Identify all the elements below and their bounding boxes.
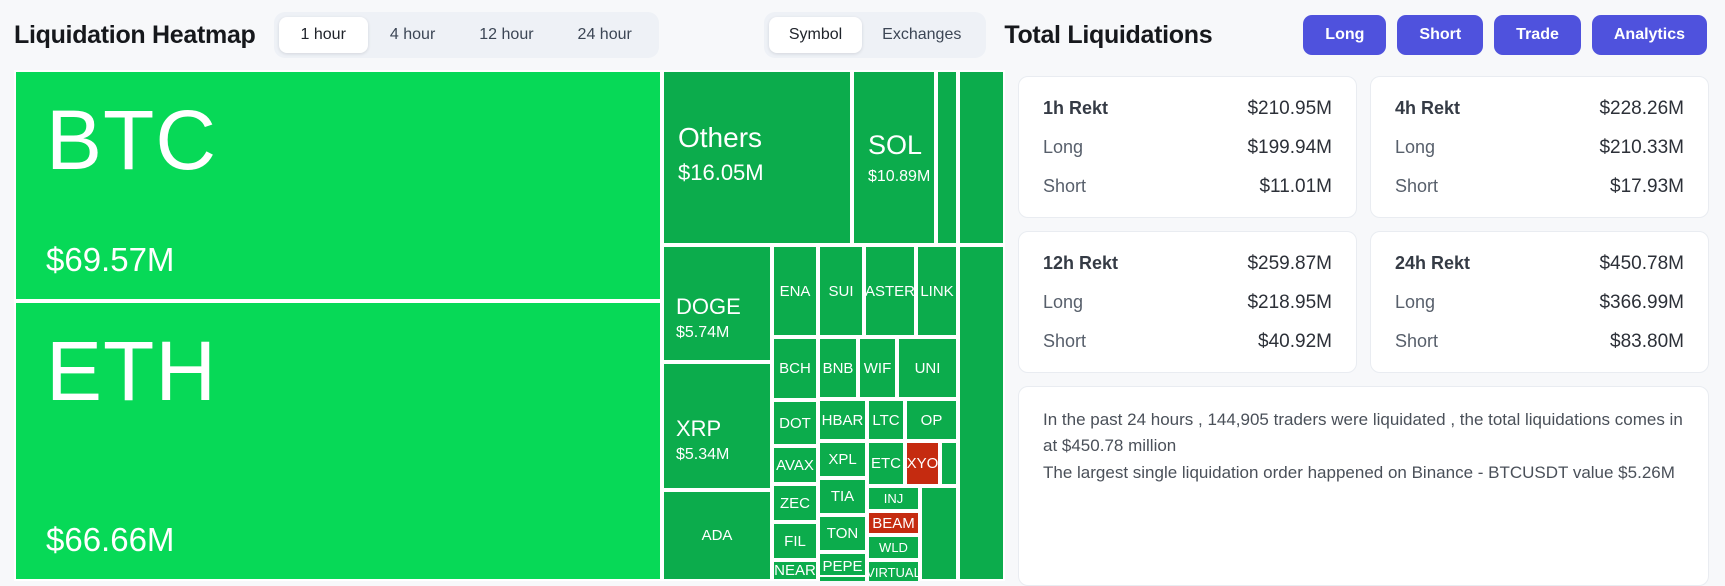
tile-symbol: HBAR [822,412,864,429]
treemap-tile-xyo[interactable]: XYO [905,441,940,486]
timeframe-tab-4-hour[interactable]: 4 hour [368,17,457,53]
treemap-tile-uni[interactable]: UNI [897,337,958,399]
stat-amount: $83.80M [1610,331,1684,353]
treemap-tile-xpl[interactable]: XPL [818,441,867,478]
tile-value: $69.57M [46,241,174,279]
tile-symbol: XYO [907,455,939,472]
summary-line-2: The largest single liquidation order hap… [1043,460,1684,486]
treemap-tile-etc[interactable]: ETC [867,441,905,486]
tile-value: $5.34M [676,446,729,464]
tile-value: $5.74M [676,324,729,342]
treemap-tile-doge[interactable]: DOGE$5.74M [662,245,772,362]
treemap-tile-beam[interactable]: BEAM [867,511,920,535]
stat-label: Short [1043,176,1086,197]
stat-amount: $17.93M [1610,176,1684,198]
main-body: BTC$69.57METH$66.66MOthers$16.05MSOL$10.… [0,70,1725,586]
treemap-tile-wld[interactable]: WLD [867,535,920,560]
tile-symbol: ETC [871,455,901,472]
stat-label: 12h Rekt [1043,253,1118,274]
tile-symbol: XPL [828,451,856,468]
treemap-tile-ltc[interactable]: LTC [867,399,905,441]
treemap-tile-op[interactable]: OP [905,399,958,441]
tile-symbol: UNI [915,360,941,377]
stat-total-row: 1h Rekt$210.95M [1043,98,1332,120]
tile-symbol: VIRTUAL [867,565,920,580]
tile-symbol: LINK [920,283,953,300]
tile-symbol: BCH [779,360,811,377]
treemap-tile-xrp[interactable]: XRP$5.34M [662,362,772,490]
view-mode-tabs: SymbolExchanges [764,12,987,58]
stat-amount: $210.33M [1599,137,1684,159]
tile-symbol: DOT [779,415,811,432]
treemap-tile-tia[interactable]: TIA [818,478,867,515]
treemap-tile-avax[interactable]: AVAX [772,446,818,484]
treemap-tile-filler [958,70,1005,245]
total-liquidations-title: Total Liquidations [1004,21,1212,50]
stat-amount: $11.01M [1259,176,1332,198]
tile-symbol: AVAX [776,457,814,474]
tile-symbol: TIA [831,488,854,505]
stat-label: Short [1043,331,1086,352]
tile-value: $10.89M [868,168,930,186]
long-button[interactable]: Long [1303,15,1386,55]
tile-symbol: WLD [879,540,908,555]
tile-symbol: DOGE [676,294,741,320]
treemap-tile-bch[interactable]: BCH [772,337,818,400]
tile-symbol: SUI [828,283,853,300]
tile-symbol: INJ [884,491,904,506]
app-header: Liquidation Heatmap 1 hour4 hour12 hour2… [0,0,1725,70]
tile-symbol: WIF [864,360,892,377]
stat-label: Long [1395,292,1435,313]
stat-total-row: 12h Rekt$259.87M [1043,253,1332,275]
tile-symbol: TON [827,525,858,542]
treemap-tile-dot[interactable]: DOT [772,400,818,446]
treemap-tile-aster[interactable]: ASTER [864,245,916,337]
treemap-tile-ena[interactable]: ENA [772,245,818,337]
stat-total-row: 4h Rekt$228.26M [1395,98,1684,120]
summary-card: In the past 24 hours , 144,905 traders w… [1018,386,1709,586]
stat-label: 1h Rekt [1043,98,1108,119]
stat-total-row: 24h Rekt$450.78M [1395,253,1684,275]
stat-short-row: Short$83.80M [1395,331,1684,353]
tile-symbol: ADA [702,527,733,544]
tile-symbol: Others [678,122,762,154]
stat-long-row: Long$218.95M [1043,292,1332,314]
stat-amount: $199.94M [1247,137,1332,159]
treemap-tile-filler [936,70,958,245]
view-mode-tab-exchanges[interactable]: Exchanges [862,17,981,53]
treemap-tile-zec[interactable]: ZEC [772,484,818,522]
treemap-tile-trump[interactable]: TRUMP [818,575,867,581]
stat-label: 24h Rekt [1395,253,1470,274]
analytics-button[interactable]: Analytics [1592,15,1707,55]
tile-symbol: XRP [676,416,721,442]
treemap-tile-virtual[interactable]: VIRTUAL [867,560,920,581]
treemap-tile-hbar[interactable]: HBAR [818,399,867,441]
header-actions: LongShortTradeAnalytics [1303,15,1707,55]
treemap-tile-eth[interactable]: ETH$66.66M [14,301,662,581]
treemap-tile-filler [958,245,1005,581]
stat-card-4h: 4h Rekt$228.26MLong$210.33MShort$17.93M [1370,76,1709,218]
stat-amount: $366.99M [1599,292,1684,314]
treemap-tile-bnb[interactable]: BNB [818,337,858,399]
treemap-tile-near[interactable]: NEAR [772,560,818,581]
treemap-tile-ton[interactable]: TON [818,515,867,552]
tile-symbol: ZEC [780,495,810,512]
summary-line-1: In the past 24 hours , 144,905 traders w… [1043,407,1684,460]
tile-symbol: PEPE [822,558,862,575]
liquidation-treemap[interactable]: BTC$69.57METH$66.66MOthers$16.05MSOL$10.… [14,70,1005,581]
stat-amount: $218.95M [1247,292,1332,314]
tile-symbol: OP [921,412,943,429]
tile-value: $16.05M [678,160,764,186]
stat-long-row: Long$366.99M [1395,292,1684,314]
treemap-tile-wif[interactable]: WIF [858,337,897,399]
stat-label: Long [1043,292,1083,313]
stat-amount: $40.92M [1258,331,1332,353]
tile-value: $66.66M [46,521,174,559]
tile-symbol: NEAR [774,562,816,579]
tile-symbol: BEAM [872,515,915,532]
trade-button[interactable]: Trade [1494,15,1581,55]
treemap-tile-inj[interactable]: INJ [867,486,920,511]
tile-symbol: BNB [823,360,854,377]
treemap-tile-sui[interactable]: SUI [818,245,864,337]
treemap-tile-btc[interactable]: BTC$69.57M [14,70,662,301]
stat-amount: $228.26M [1599,98,1684,120]
view-mode-tab-symbol[interactable]: Symbol [769,17,862,53]
page-title: Liquidation Heatmap [14,21,256,50]
stat-label: Short [1395,176,1438,197]
tile-symbol: ETH [46,329,217,413]
tile-symbol: ASTER [865,283,915,300]
tile-symbol: LTC [872,412,899,429]
tile-symbol: SOL [868,130,922,161]
timeframe-tab-12-hour[interactable]: 12 hour [457,17,555,53]
treemap-tile-sol[interactable]: SOL$10.89M [852,70,936,245]
stat-card-24h: 24h Rekt$450.78MLong$366.99MShort$83.80M [1370,231,1709,373]
stat-label: Long [1395,137,1435,158]
treemap-tile-filler [940,441,958,486]
tile-symbol: BTC [46,98,217,182]
stat-short-row: Short$11.01M [1043,176,1332,198]
timeframe-tabs: 1 hour4 hour12 hour24 hour [274,12,659,58]
short-button[interactable]: Short [1397,15,1483,55]
stats-panel: 1h Rekt$210.95MLong$199.94MShort$11.01M4… [1005,70,1725,586]
stat-card-1h: 1h Rekt$210.95MLong$199.94MShort$11.01M [1018,76,1357,218]
stat-short-row: Short$17.93M [1395,176,1684,198]
stat-cards-grid: 1h Rekt$210.95MLong$199.94MShort$11.01M4… [1018,76,1709,373]
stat-amount: $450.78M [1599,253,1684,275]
treemap-tile-filler [920,486,958,581]
stat-label: Short [1395,331,1438,352]
stat-label: Long [1043,137,1083,158]
stat-short-row: Short$40.92M [1043,331,1332,353]
stat-amount: $210.95M [1247,98,1332,120]
timeframe-tab-1-hour[interactable]: 1 hour [279,17,368,53]
timeframe-tab-24-hour[interactable]: 24 hour [556,17,654,53]
treemap-tile-ada[interactable]: ADA [662,490,772,581]
treemap-tile-fil[interactable]: FIL [772,522,818,560]
tile-symbol: FIL [784,533,806,550]
tile-symbol: ENA [780,283,811,300]
treemap-tile-others[interactable]: Others$16.05M [662,70,852,245]
stat-long-row: Long$210.33M [1395,137,1684,159]
stat-card-12h: 12h Rekt$259.87MLong$218.95MShort$40.92M [1018,231,1357,373]
stat-label: 4h Rekt [1395,98,1460,119]
stat-long-row: Long$199.94M [1043,137,1332,159]
treemap-tile-link[interactable]: LINK [916,245,958,337]
stat-amount: $259.87M [1247,253,1332,275]
